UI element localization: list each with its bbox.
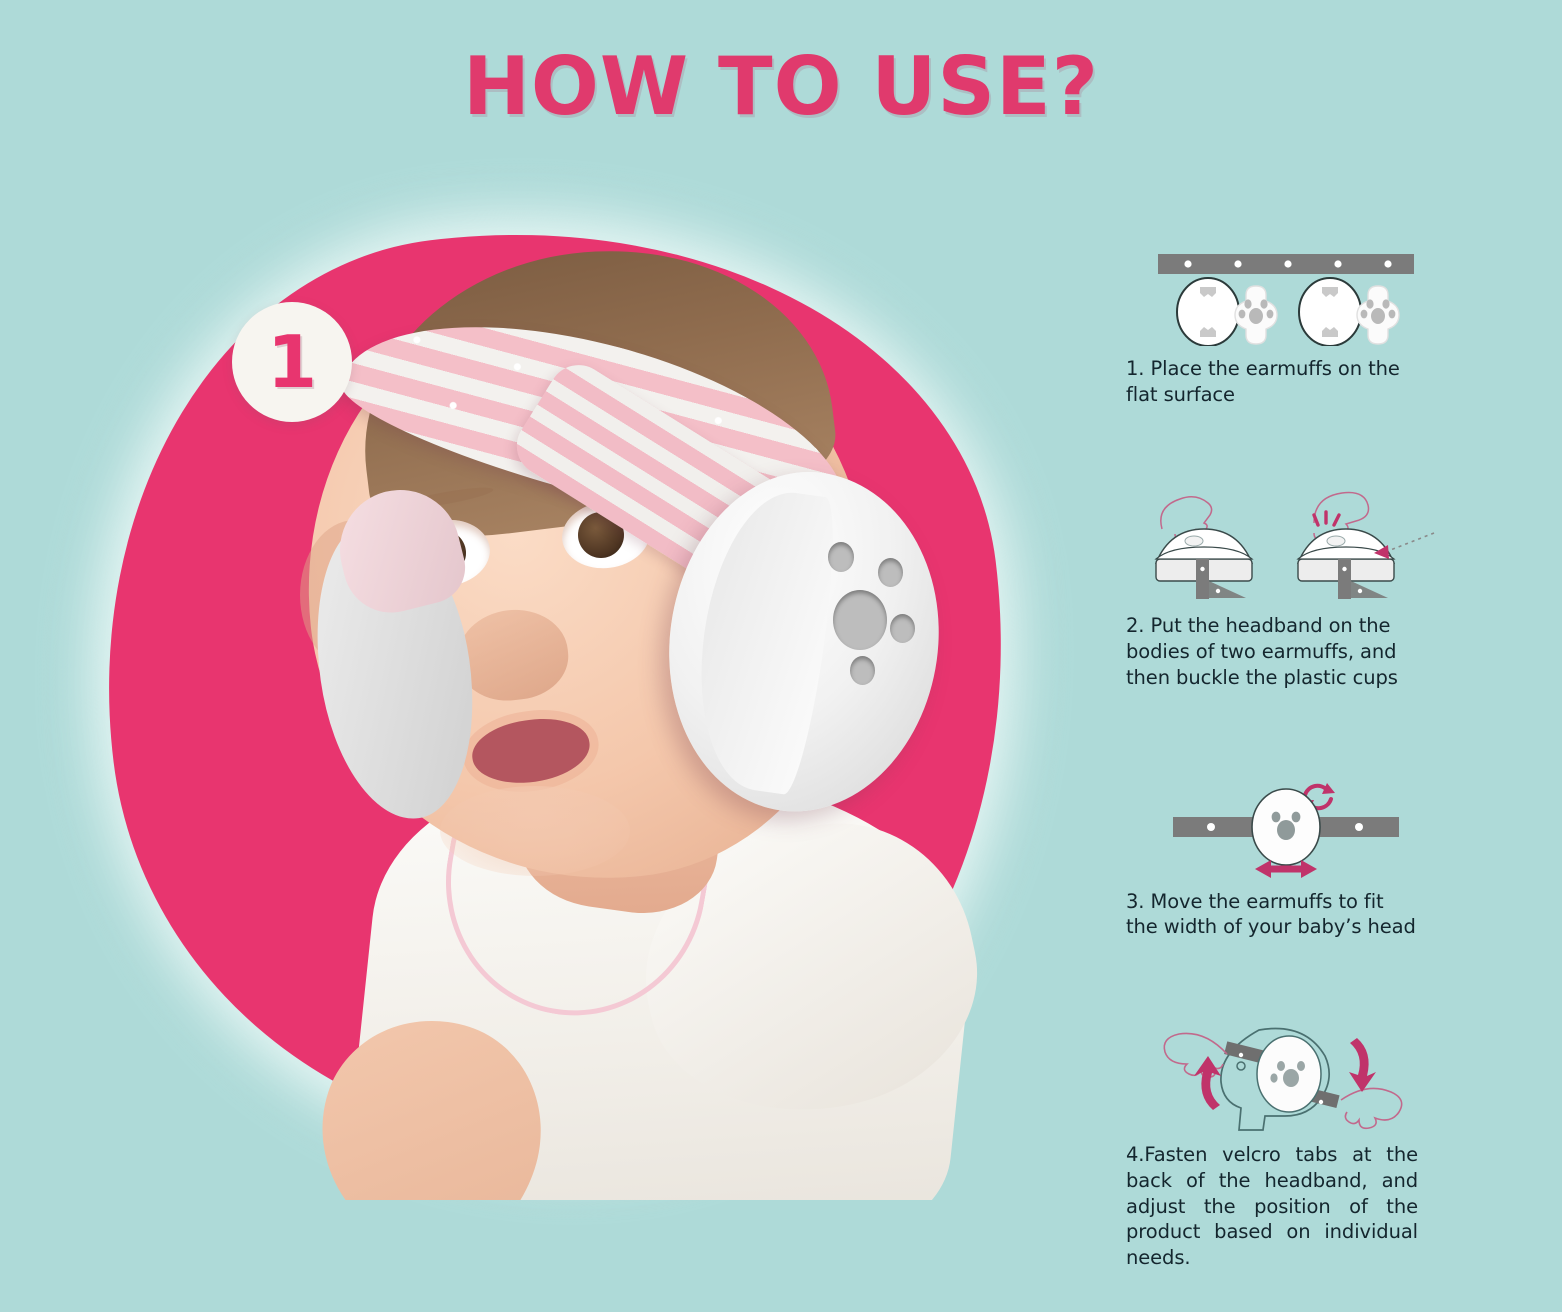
- paw-print-toe-icon: [878, 558, 903, 587]
- step-1-caption: 1. Place the earmuffs on the flat surfac…: [1126, 356, 1418, 407]
- buckle-headband-to-earmuffs-icon: [1136, 485, 1436, 603]
- step-number-badge-label: 1: [267, 326, 317, 398]
- step-2-illustration: [1126, 485, 1446, 603]
- how-to-use-infographic: HOW TO USE?: [0, 0, 1562, 1312]
- paw-print-pad-icon: [833, 590, 887, 650]
- paw-print-toe-icon: [890, 614, 915, 643]
- step-number-badge: 1: [232, 302, 352, 422]
- page-title: HOW TO USE?: [0, 47, 1562, 127]
- step-4-illustration: [1126, 1012, 1446, 1132]
- steps-column: 1. Place the earmuffs on the flat surfac…: [1126, 250, 1446, 1271]
- step-1: 1. Place the earmuffs on the flat surfac…: [1126, 250, 1446, 407]
- step-3-caption: 3. Move the earmuffs to fit the width of…: [1126, 889, 1418, 940]
- slide-earmuff-along-band-icon: [1159, 773, 1413, 879]
- paw-print-toe-icon: [850, 656, 875, 685]
- hero-photo-panel: 1: [70, 150, 1060, 1210]
- baby-chin-highlight: [440, 786, 630, 876]
- fasten-velcro-on-head-icon: [1141, 1012, 1431, 1132]
- step-3: 3. Move the earmuffs to fit the width of…: [1126, 773, 1446, 940]
- paw-print-toe-icon: [828, 542, 854, 572]
- step-4-caption: 4.Fasten velcro tabs at the back of the …: [1126, 1142, 1418, 1271]
- step-3-illustration: [1126, 773, 1446, 879]
- step-2: 2. Put the headband on the bodies of two…: [1126, 485, 1446, 690]
- step-1-illustration: [1126, 250, 1446, 346]
- earmuffs-on-flat-surface-icon: [1152, 250, 1420, 346]
- step-2-caption: 2. Put the headband on the bodies of two…: [1126, 613, 1418, 690]
- step-4: 4.Fasten velcro tabs at the back of the …: [1126, 1012, 1446, 1271]
